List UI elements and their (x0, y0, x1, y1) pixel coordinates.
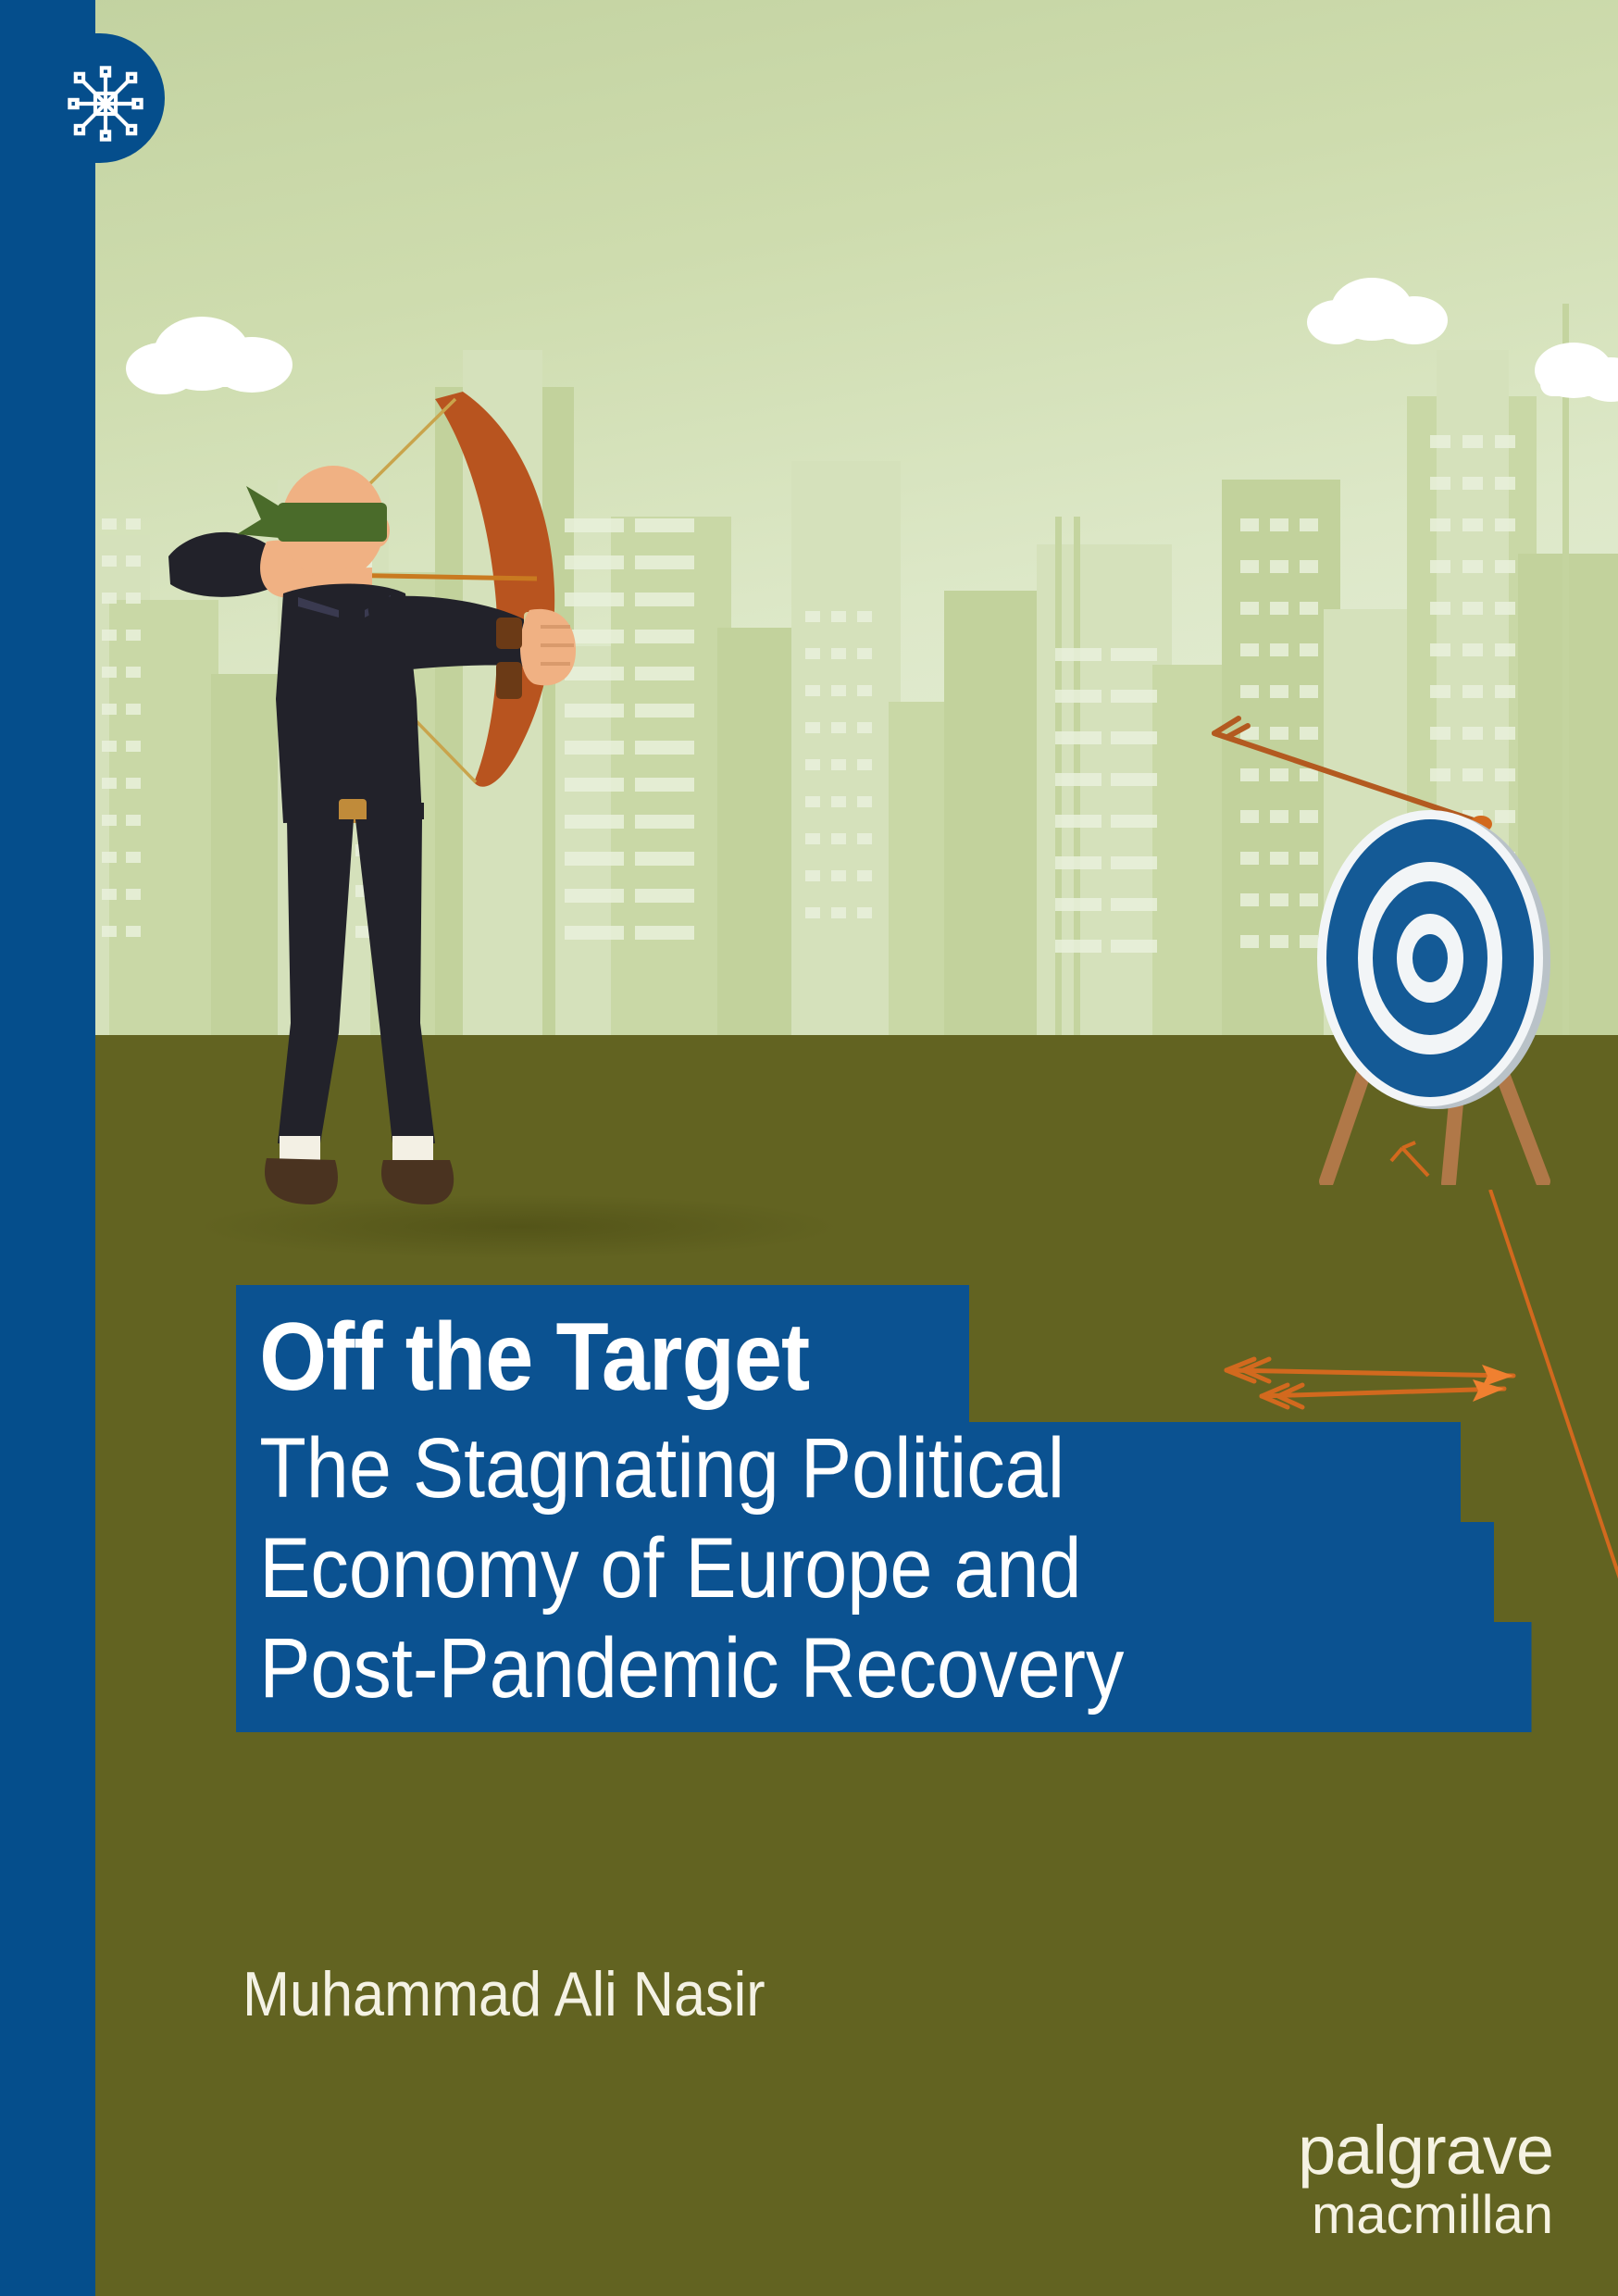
subtitle-line-1: The Stagnating Political (236, 1422, 1461, 1522)
author-name: Muhammad Ali Nasir (243, 1958, 765, 2030)
subtitle-line-2: Economy of Europe and (236, 1522, 1494, 1622)
palgrave-network-icon (63, 61, 148, 146)
spine-strip (0, 0, 95, 2296)
book-title: Off the Target (236, 1285, 969, 1422)
cloud-icon (126, 317, 292, 394)
bow-icon (435, 392, 554, 787)
publisher-logo: palgrave macmillan (1298, 2115, 1553, 2242)
archery-target-icon (1291, 768, 1615, 1185)
publisher-name-palgrave: palgrave (1298, 2115, 1553, 2185)
cloud-icon (1307, 278, 1448, 344)
subtitle-line-3: Post-Pandemic Recovery (236, 1622, 1532, 1733)
publisher-name-macmillan: macmillan (1298, 2188, 1553, 2242)
title-block: Off the Target The Stagnating Political … (236, 1285, 1560, 1732)
cloud-icon (1535, 343, 1618, 402)
book-cover: Off the Target The Stagnating Political … (0, 0, 1618, 2296)
blindfolded-archer-icon (157, 384, 657, 1227)
